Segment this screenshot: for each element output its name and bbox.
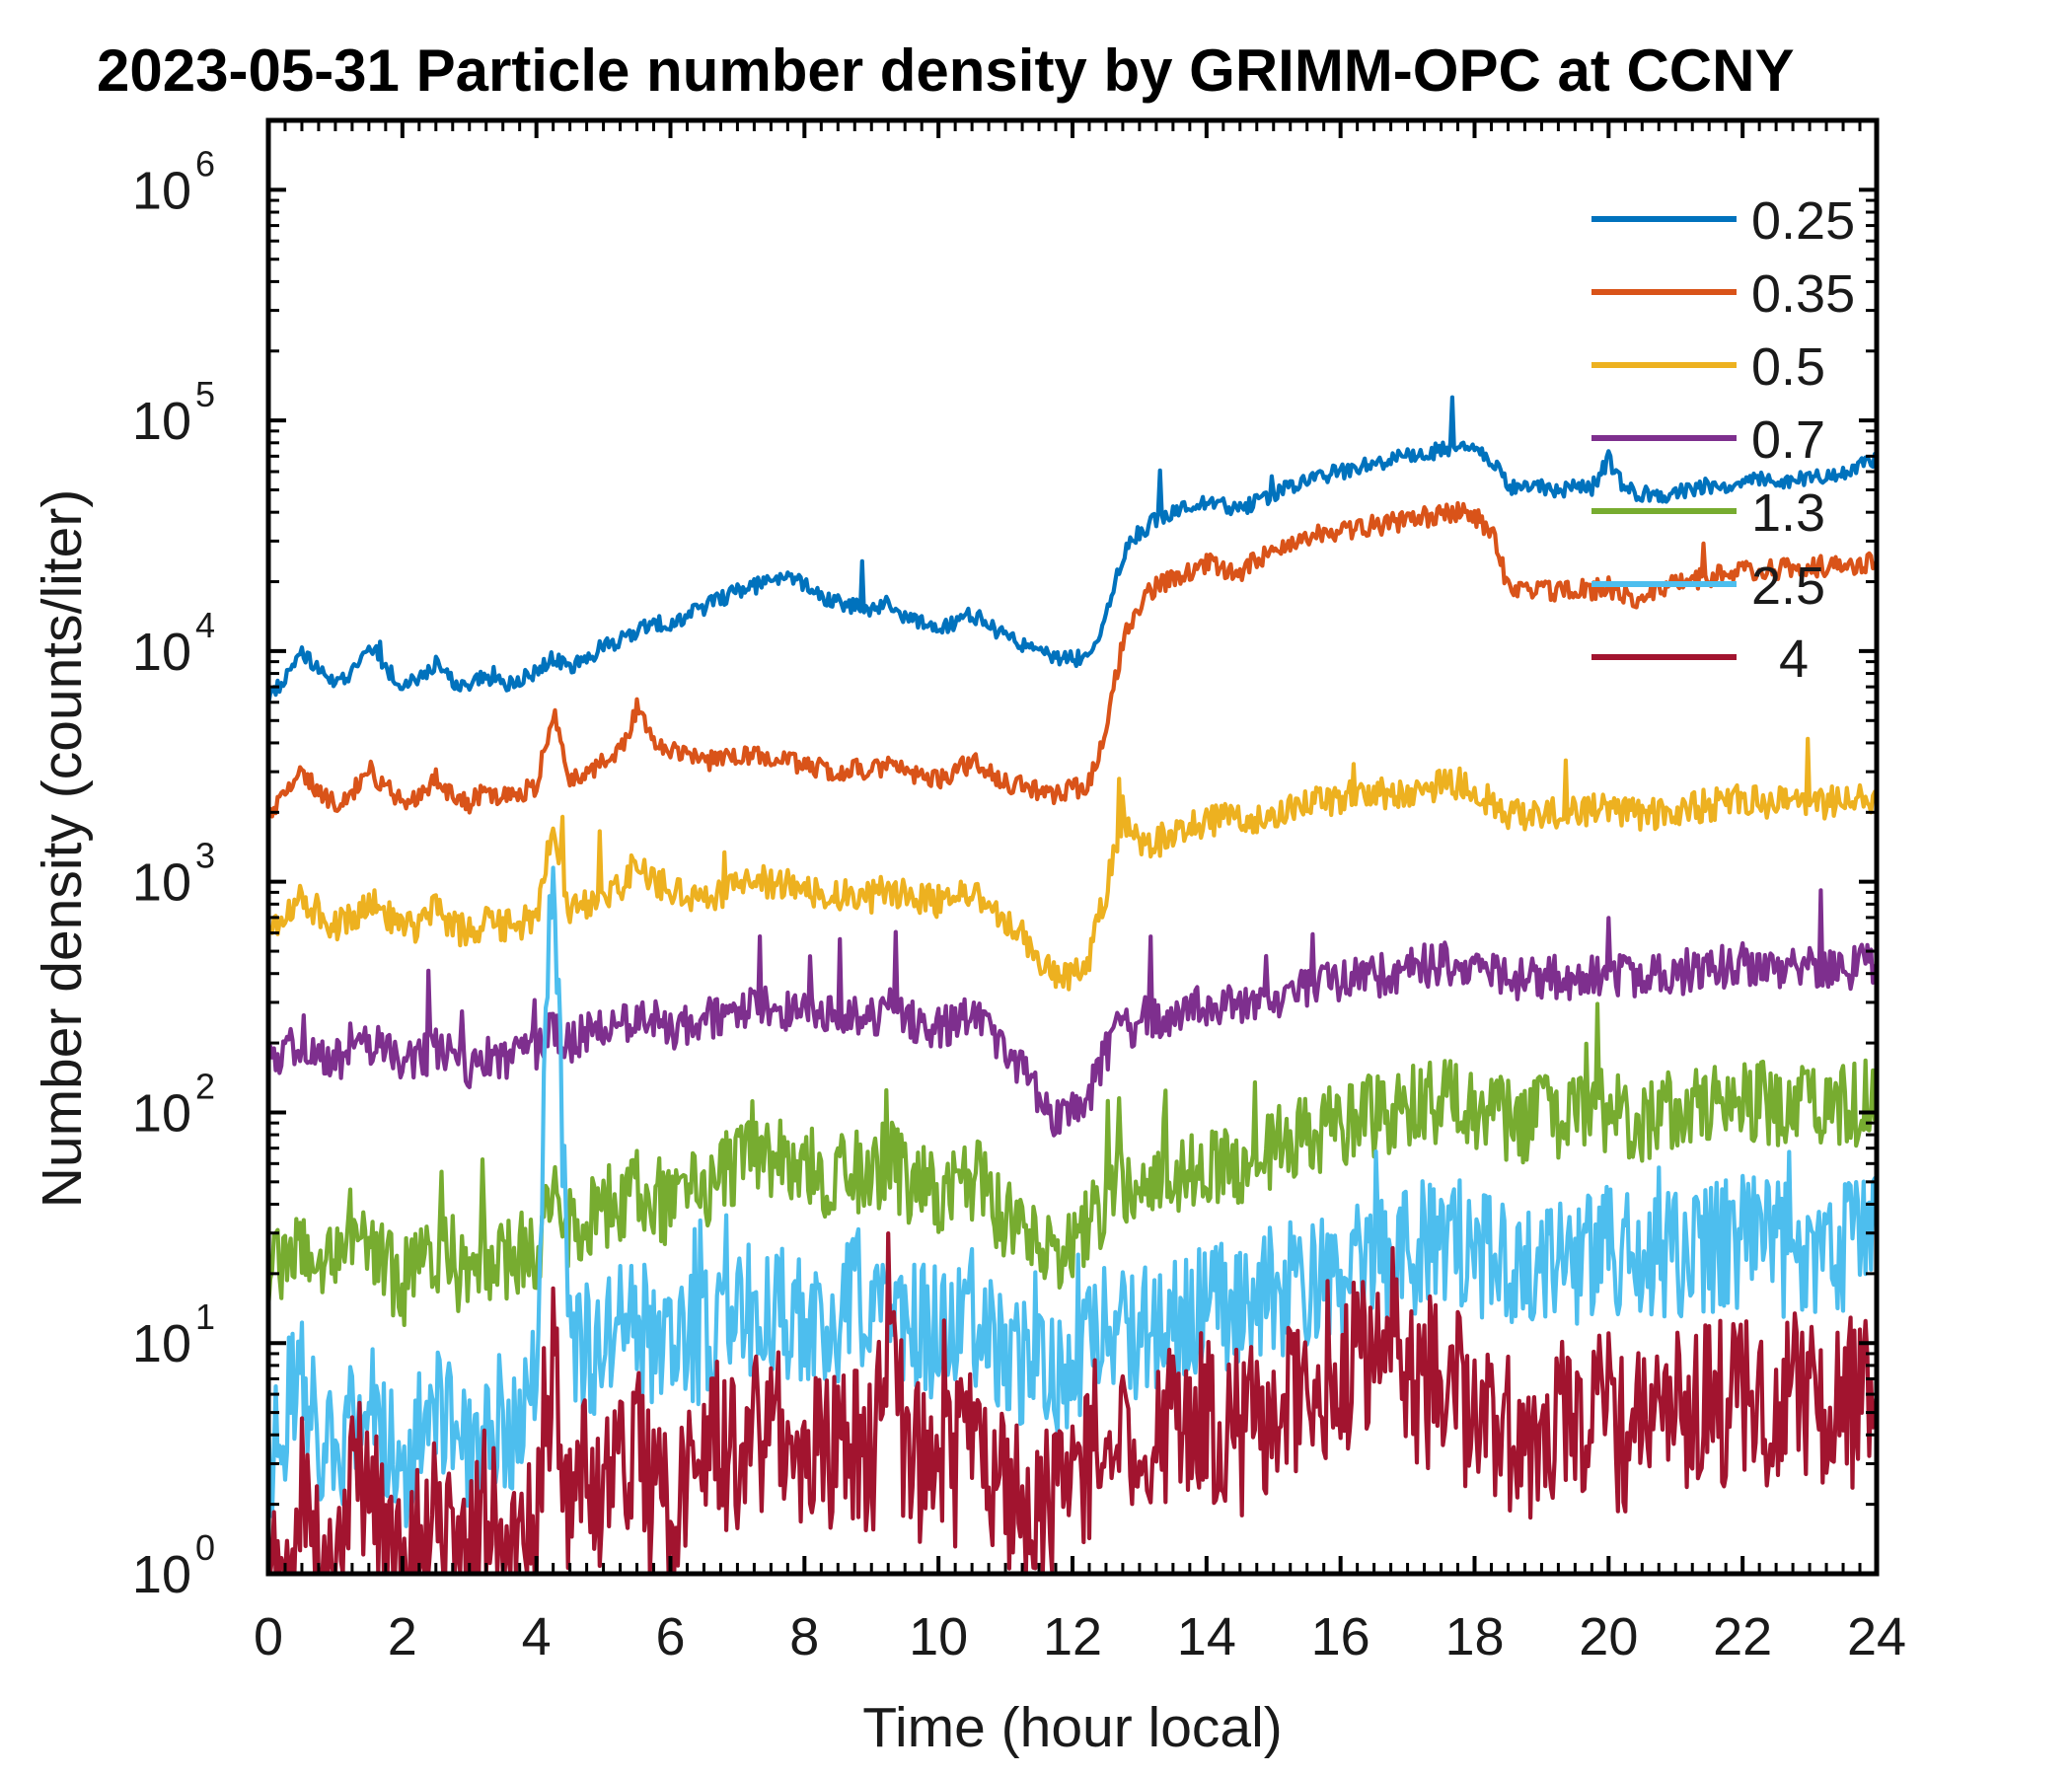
legend-label-0-5: 0.5 (1751, 337, 1825, 397)
x-tick-label-0: 0 (254, 1607, 283, 1666)
legend-label-1-3: 1.3 (1751, 483, 1825, 543)
x-tick-label-12: 12 (1043, 1607, 1102, 1666)
svg-text:1: 1 (195, 1296, 215, 1337)
chart-canvas: 2023-05-31 Particle number density by GR… (0, 0, 2072, 1776)
x-tick-label-24: 24 (1847, 1607, 1906, 1666)
svg-text:5: 5 (195, 374, 215, 414)
figure-container: 2023-05-31 Particle number density by GR… (0, 0, 2072, 1776)
svg-text:4: 4 (195, 605, 215, 645)
x-tick-label-8: 8 (789, 1607, 819, 1666)
svg-text:6: 6 (195, 143, 215, 184)
x-tick-label-4: 4 (522, 1607, 552, 1666)
svg-text:10: 10 (132, 1314, 191, 1373)
x-tick-label-14: 14 (1177, 1607, 1236, 1666)
legend-label-0-25: 0.25 (1751, 191, 1855, 251)
svg-text:10: 10 (132, 1545, 191, 1604)
x-tick-label-20: 20 (1579, 1607, 1638, 1666)
svg-text:10: 10 (132, 623, 191, 682)
legend-label-0-35: 0.35 (1751, 264, 1855, 324)
legend-label-4: 4 (1779, 629, 1809, 689)
x-axis-title: Time (hour local) (862, 1696, 1283, 1759)
legend-label-2-5: 2.5 (1751, 556, 1825, 616)
x-tick-label-22: 22 (1713, 1607, 1772, 1666)
svg-text:2: 2 (195, 1066, 215, 1106)
x-tick-label-16: 16 (1311, 1607, 1370, 1666)
x-tick-label-2: 2 (388, 1607, 417, 1666)
y-axis-title: Number density (counts/liter) (31, 489, 94, 1209)
chart-title: 2023-05-31 Particle number density by GR… (97, 37, 1795, 104)
x-tick-label-18: 18 (1444, 1607, 1504, 1666)
svg-text:10: 10 (132, 1083, 191, 1143)
x-tick-label-10: 10 (909, 1607, 968, 1666)
svg-text:10: 10 (132, 392, 191, 451)
svg-text:10: 10 (132, 161, 191, 220)
x-tick-label-6: 6 (655, 1607, 685, 1666)
svg-text:10: 10 (132, 853, 191, 913)
svg-text:3: 3 (195, 836, 215, 876)
svg-text:0: 0 (195, 1527, 215, 1568)
legend-label-0-7: 0.7 (1751, 410, 1825, 470)
